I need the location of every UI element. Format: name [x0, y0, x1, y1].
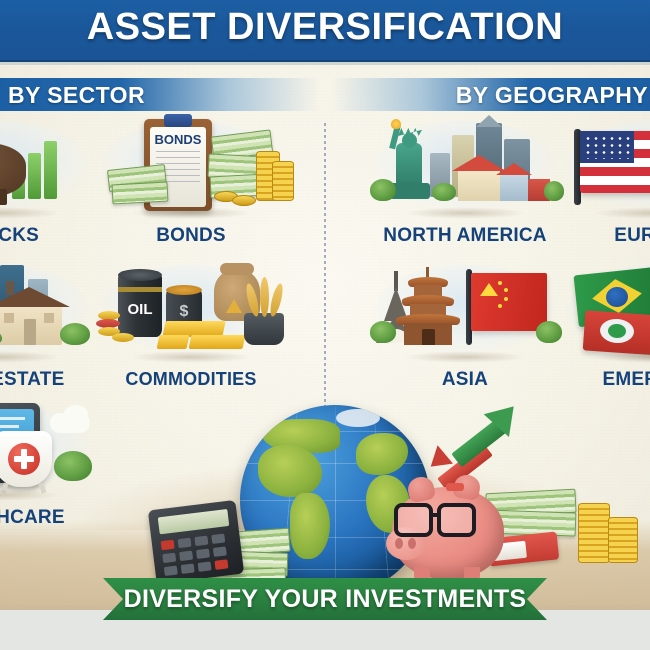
footer-ribbon: DIVERSIFY YOUR INVESTMENTS — [103, 578, 547, 620]
poster-header: ASSET DIVERSIFICATION — [0, 0, 650, 62]
sector-item-commodities-label: COMMODITIES — [96, 369, 286, 390]
gold-coin-stack-icon — [608, 517, 638, 563]
gold-coin-stack-icon — [578, 503, 610, 563]
sector-item-bonds[interactable]: BONDS BONDS — [96, 113, 286, 247]
bonds-document-title: BONDS — [152, 132, 204, 147]
oil-barrel-label: OIL — [118, 301, 162, 318]
geography-item-europe[interactable]: EUROPE — [560, 113, 650, 247]
geography-item-europe-label: EUROPE — [560, 225, 650, 247]
money-barrel-label: $ — [166, 303, 202, 321]
footer-ribbon-label: DIVERSIFY YOUR INVESTMENTS — [103, 585, 547, 614]
brazil-flag-globe-icon — [560, 257, 650, 367]
section-banner-by-sector-label: BY SECTOR — [8, 82, 145, 109]
sector-item-bonds-label: BONDS — [96, 225, 286, 247]
sector-item-stocks-label: STOCKS — [0, 225, 94, 247]
usa-flag-icon — [560, 113, 650, 223]
section-banner-by-sector: BY SECTOR — [0, 78, 318, 111]
oil-gold-wheat-icon: OIL $ — [96, 257, 286, 367]
bull-bar-chart-icon — [0, 113, 94, 223]
geography-item-emerging-label: EMERGING — [560, 369, 650, 391]
house-city-icon — [0, 257, 94, 367]
calculator-icon — [148, 500, 244, 584]
sector-item-commodities[interactable]: OIL $ — [96, 257, 286, 390]
piggy-bank-glasses-icon — [392, 487, 504, 579]
geography-item-north-america[interactable]: NORTH AMERICA — [370, 113, 560, 247]
page-title: ASSET DIVERSIFICATION — [0, 6, 650, 49]
sector-item-stocks[interactable]: STOCKS — [0, 113, 94, 247]
sector-item-real-estate-label: REAL ESTATE — [0, 369, 94, 391]
bonds-clipboard-money-icon: BONDS — [96, 113, 286, 223]
section-banner-by-geography: BY GEOGRAPHY — [332, 78, 650, 111]
geography-item-emerging[interactable]: EMERGING — [560, 257, 650, 391]
geography-item-asia-label: ASIA — [370, 369, 560, 391]
section-divider — [324, 123, 326, 413]
sector-item-real-estate[interactable]: REAL ESTATE — [0, 257, 94, 391]
infographic-poster: ASSET DIVERSIFICATION BY SECTOR BY GEOGR… — [0, 0, 650, 650]
geography-item-north-america-label: NORTH AMERICA — [370, 225, 560, 247]
geography-item-asia[interactable]: ASIA — [370, 257, 560, 391]
pagoda-eiffel-china-flag-icon — [370, 257, 560, 367]
growth-arrow-up-icon — [432, 405, 524, 491]
poster-body: BY SECTOR BY GEOGRAPHY — [0, 65, 650, 605]
section-banner-by-geography-label: BY GEOGRAPHY — [456, 82, 648, 109]
statue-of-liberty-skyline-icon — [370, 113, 560, 223]
